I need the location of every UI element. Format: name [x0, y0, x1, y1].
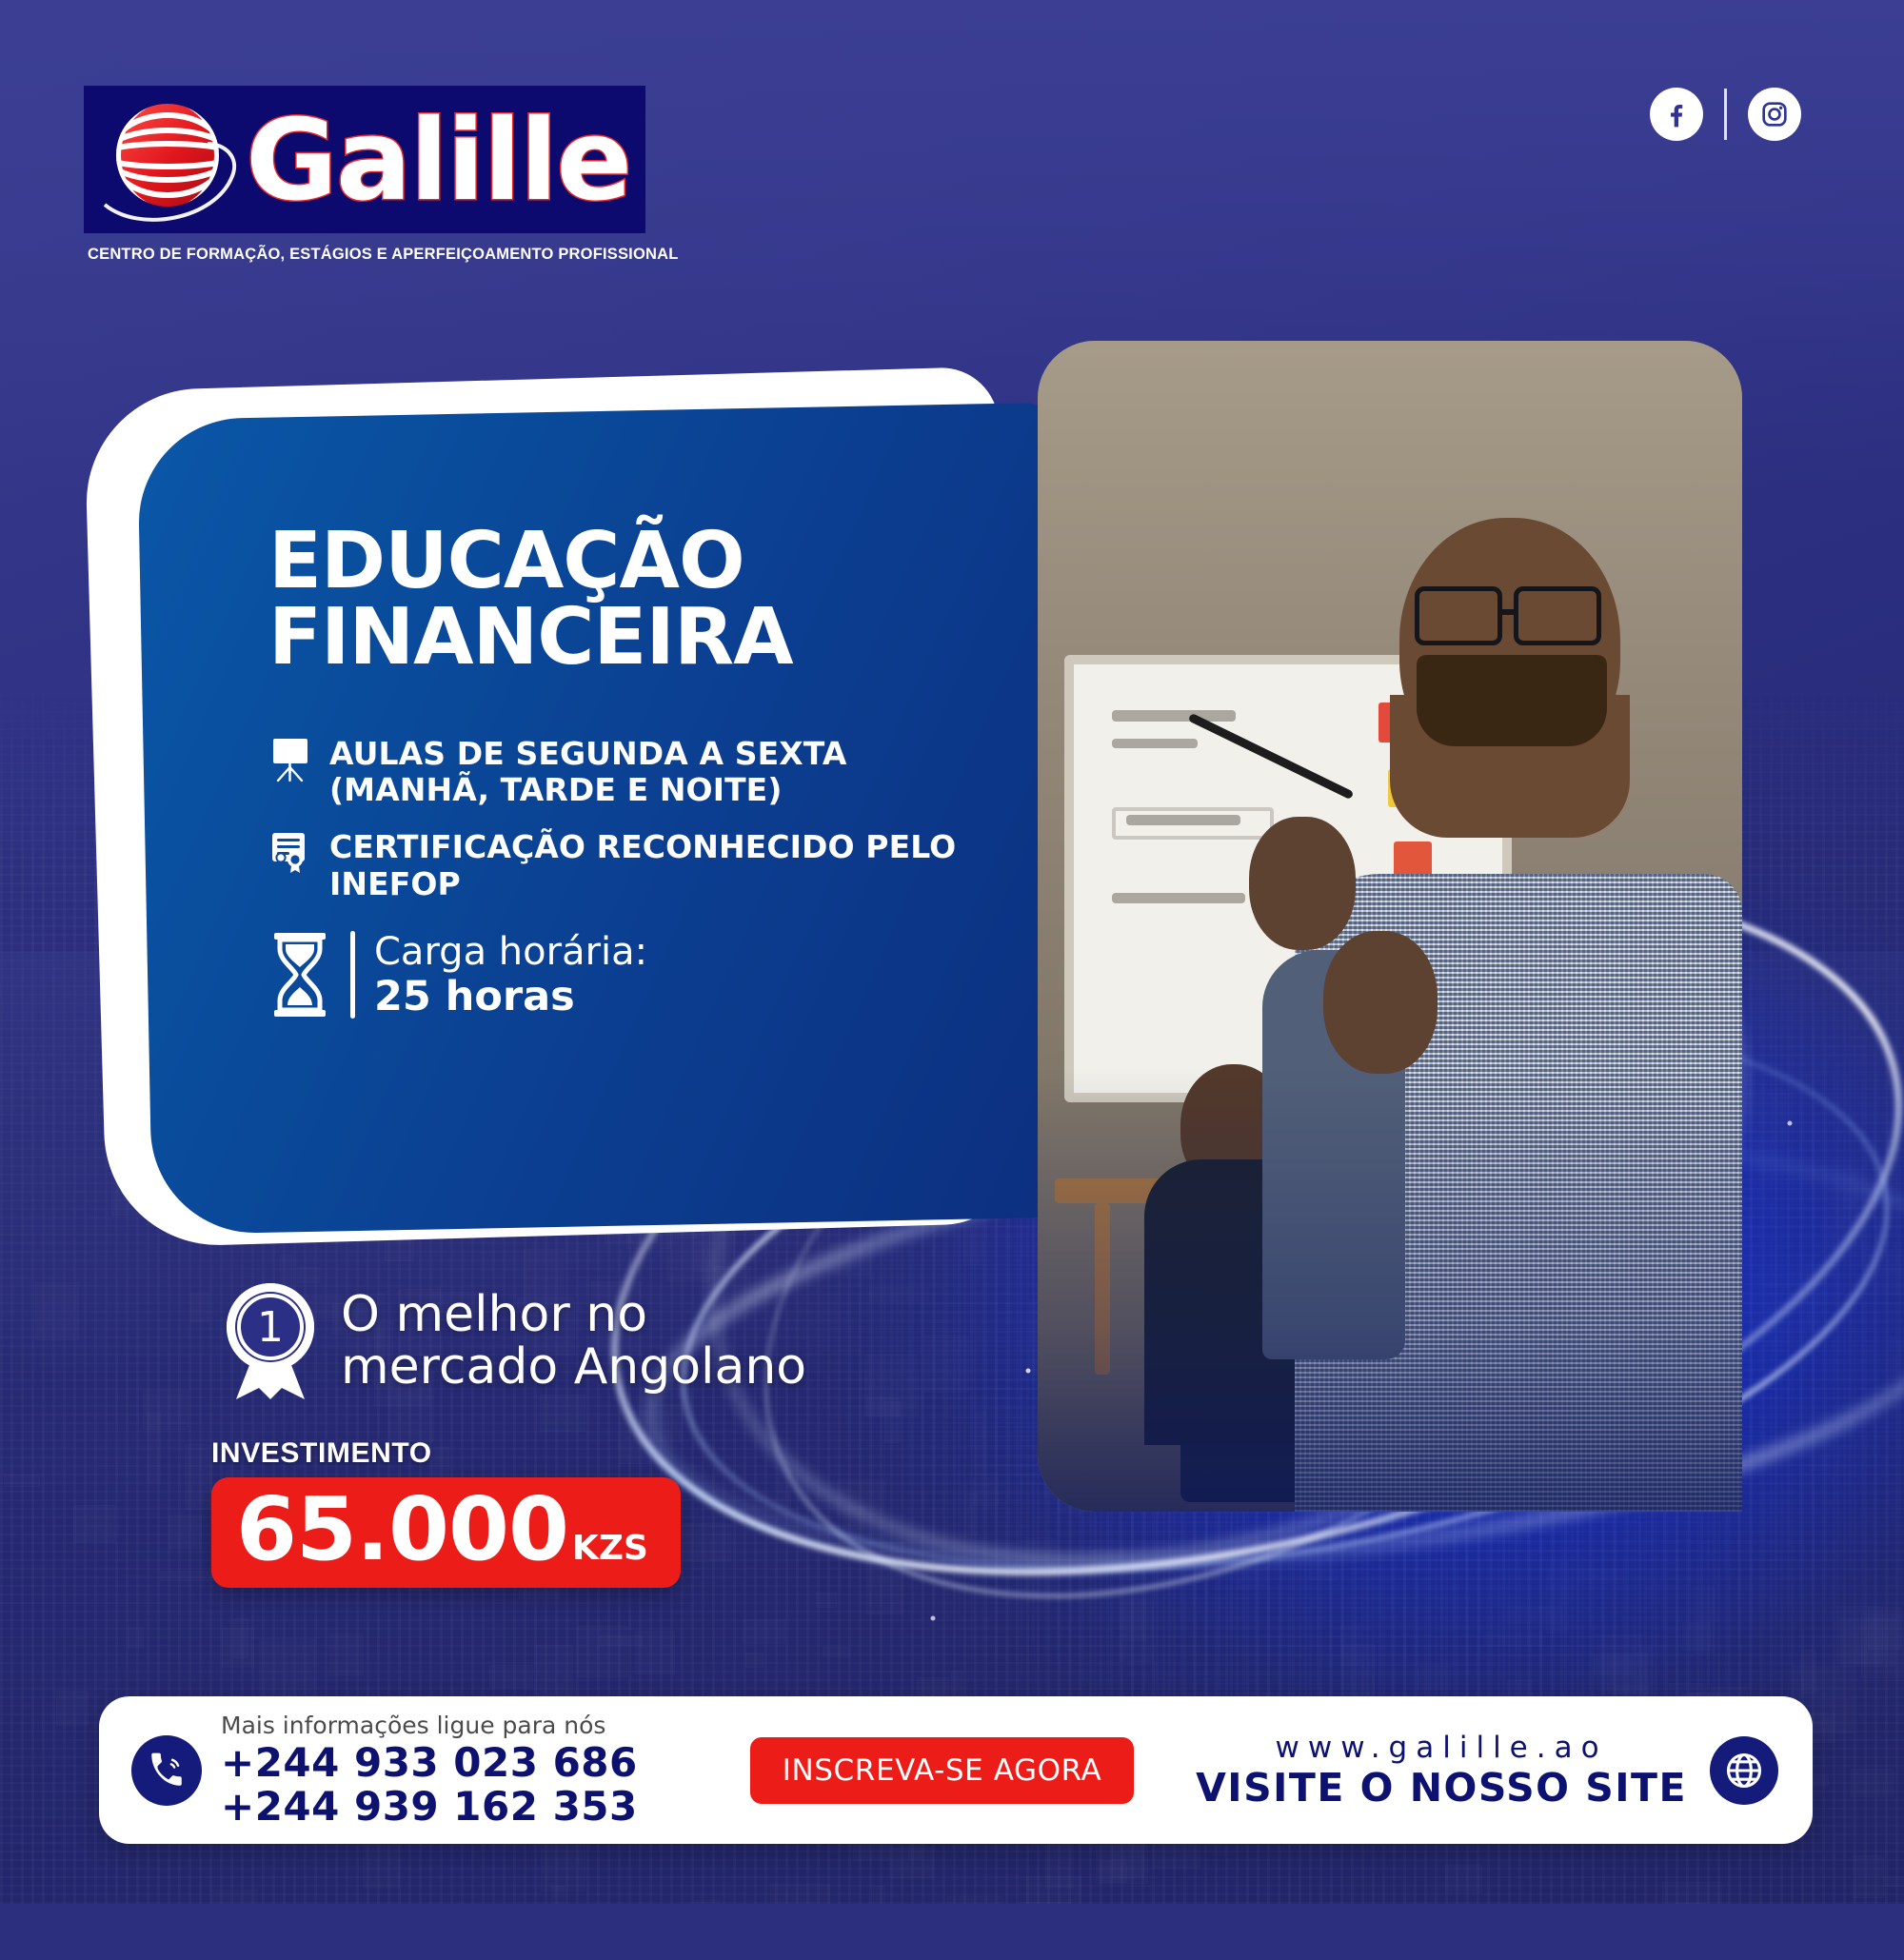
facebook-icon[interactable] — [1650, 88, 1703, 141]
enroll-now-button[interactable]: INSCREVA-SE AGORA — [750, 1737, 1135, 1804]
instructor-photo — [1038, 341, 1742, 1512]
globe-logo-icon — [101, 89, 244, 231]
website-url: www.galille.ao — [1196, 1731, 1687, 1765]
price-block: INVESTIMENTO 65.000 KZS — [211, 1437, 681, 1588]
whiteboard-easel-icon — [268, 736, 312, 783]
award-ribbon-icon: 1 — [221, 1277, 320, 1404]
more-info-label: Mais informações ligue para nós — [221, 1712, 638, 1739]
contact-text: Mais informações ligue para nós +244 933… — [221, 1712, 638, 1829]
price-badge: 65.000 KZS — [211, 1477, 681, 1588]
feature-schedule: AULAS DE SEGUNDA A SEXTA (MANHÃ, TARDE E… — [268, 736, 1059, 809]
brand-name: Galille — [246, 104, 630, 216]
feature-certification-text: CERTIFICAÇÃO RECONHECIDO PELO INEFOP — [329, 829, 1059, 902]
price-amount: 65.000 — [236, 1483, 568, 1576]
phone-number-2[interactable]: +244 939 162 353 — [221, 1785, 638, 1829]
globe-icon[interactable] — [1710, 1736, 1778, 1805]
headline-line-1: EDUCAÇÃO — [268, 524, 1059, 600]
phone-number-1[interactable]: +244 933 023 686 — [221, 1741, 638, 1785]
feature-schedule-line-1: AULAS DE SEGUNDA A SEXTA — [329, 735, 846, 772]
feature-list: AULAS DE SEGUNDA A SEXTA (MANHÃ, TARDE E… — [268, 736, 1059, 1020]
feature-workload: Carga horária: 25 horas — [268, 931, 1059, 1020]
workload-text: Carga horária: 25 horas — [374, 931, 647, 1020]
instagram-icon[interactable] — [1748, 88, 1801, 141]
feature-schedule-text: AULAS DE SEGUNDA A SEXTA (MANHÃ, TARDE E… — [329, 736, 846, 809]
photo-fade — [1038, 341, 1742, 1512]
price-label: INVESTIMENTO — [211, 1437, 681, 1470]
website-text: www.galille.ao VISITE O NOSSO SITE — [1196, 1731, 1687, 1811]
badge-line-2: mercado Angolano — [341, 1341, 806, 1393]
social-links — [1650, 88, 1801, 141]
footer-bar: Mais informações ligue para nós +244 933… — [99, 1696, 1813, 1844]
feature-schedule-line-2: (MANHÃ, TARDE E NOITE) — [329, 771, 783, 808]
social-divider — [1724, 89, 1727, 140]
hourglass-icon — [268, 931, 331, 1019]
svg-text:1: 1 — [257, 1303, 284, 1352]
best-in-market-text: O melhor no mercado Angolano — [341, 1289, 806, 1392]
best-in-market-badge: 1 O melhor no mercado Angolano — [221, 1277, 806, 1404]
brand-logo[interactable]: Galille — [84, 86, 645, 233]
contact-block: Mais informações ligue para nós +244 933… — [99, 1712, 638, 1829]
badge-line-1: O melhor no — [341, 1289, 806, 1340]
website-block[interactable]: www.galille.ao VISITE O NOSSO SITE — [1196, 1731, 1813, 1811]
phone-call-icon — [131, 1735, 202, 1806]
certificate-icon — [268, 829, 312, 875]
headline-line-2: FINANCEIRA — [268, 600, 1059, 676]
workload-value: 25 horas — [374, 974, 647, 1020]
website-cta-label: VISITE O NOSSO SITE — [1196, 1765, 1687, 1811]
feature-certification: CERTIFICAÇÃO RECONHECIDO PELO INEFOP — [268, 829, 1059, 902]
brand-tagline: CENTRO DE FORMAÇÃO, ESTÁGIOS E APERFEIÇO… — [88, 246, 640, 264]
workload-label: Carga horária: — [374, 931, 647, 974]
price-currency: KZS — [572, 1529, 648, 1568]
course-card: EDUCAÇÃO FINANCEIRA — [137, 403, 1066, 1235]
page-title: EDUCAÇÃO FINANCEIRA — [268, 524, 1059, 677]
workload-divider — [350, 931, 355, 1019]
